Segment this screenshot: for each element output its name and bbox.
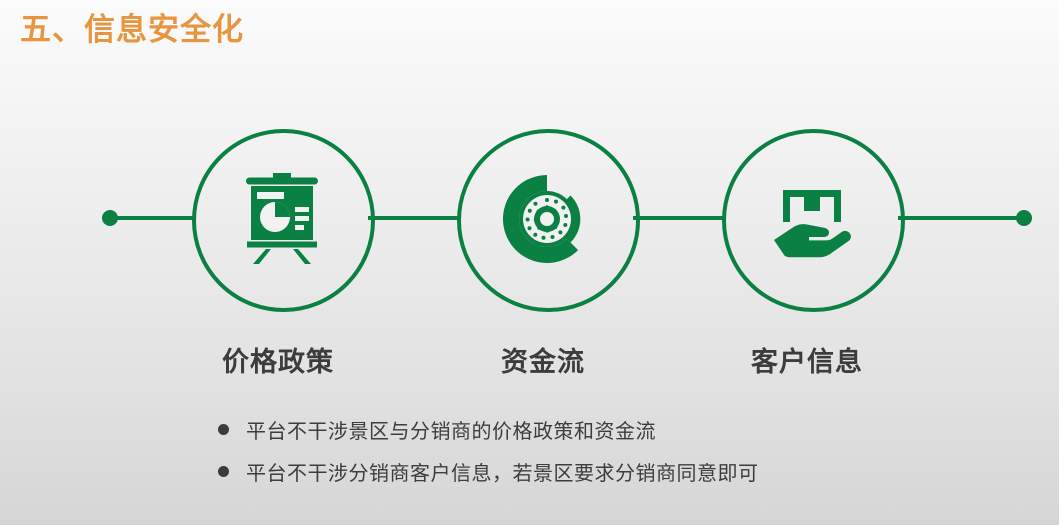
- node-label-price-policy: 价格政策: [222, 340, 334, 379]
- presentation-board-pie-chart-icon: [232, 169, 332, 269]
- diagram-node-customer-info[interactable]: [722, 129, 901, 308]
- slide-canvas: 五、信息安全化: [0, 0, 1059, 525]
- node-label-customer-info: 客户信息: [751, 340, 863, 379]
- connector-line-2-3: [633, 216, 725, 220]
- bullet-text: 平台不干涉景区与分销商的价格政策和资金流: [246, 415, 656, 444]
- bullet-text: 平台不干涉分销商客户信息，若景区要求分销商同意即可: [246, 457, 759, 486]
- list-item: 平台不干涉分销商客户信息，若景区要求分销商同意即可: [218, 450, 978, 492]
- bullet-list: 平台不干涉景区与分销商的价格政策和资金流 平台不干涉分销商客户信息，若景区要求分…: [218, 408, 978, 492]
- bullet-dot-icon: [218, 424, 229, 435]
- diagram-node-price-policy[interactable]: [192, 129, 371, 308]
- node-label-cash-flow: 资金流: [501, 340, 585, 379]
- diagram-node-cash-flow[interactable]: [457, 129, 636, 308]
- list-item: 平台不干涉景区与分销商的价格政策和资金流: [218, 408, 978, 450]
- connector-line-1-2: [368, 216, 460, 220]
- connector-line-end: [898, 216, 1024, 220]
- bullet-dot-icon: [218, 466, 229, 477]
- connector-line-start: [110, 216, 195, 220]
- brake-disc-rotor-icon: [497, 169, 597, 269]
- hand-holding-box-icon: [762, 169, 862, 269]
- timeline-end-dot: [1016, 210, 1032, 226]
